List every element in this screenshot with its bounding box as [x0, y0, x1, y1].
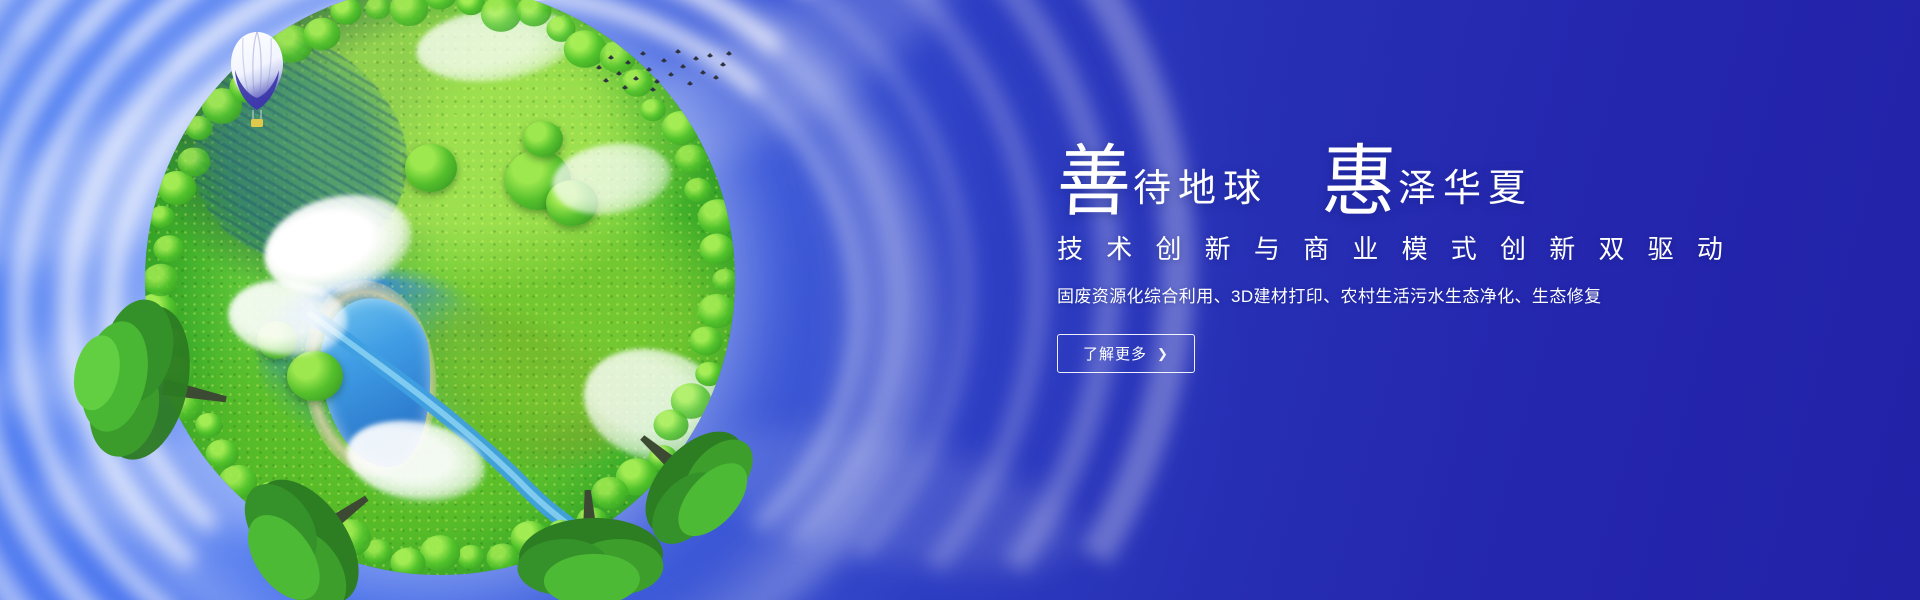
chevron-right-icon: ❯: [1157, 347, 1169, 360]
rim-tree: [675, 144, 708, 173]
hero-copy: 善 待地球 惠 泽华夏 技 术 创 新 与 商 业 模 式 创 新 双 驱 动 …: [1057, 128, 1817, 373]
rim-tree: [481, 0, 521, 32]
rim-tree: [698, 199, 735, 235]
rim-tree: [149, 205, 175, 228]
hero-subhead: 技 术 创 新 与 商 业 模 式 创 新 双 驱 动: [1057, 232, 1817, 266]
hot-air-balloon-icon: [228, 30, 286, 130]
hero-banner: 善 待地球 惠 泽华夏 技 术 创 新 与 商 业 模 式 创 新 双 驱 动 …: [0, 0, 1920, 600]
rim-tree: [641, 99, 667, 122]
rim-tree: [303, 18, 340, 50]
rim-tree: [365, 0, 391, 19]
tree-icon: [200, 455, 415, 600]
rim-tree: [153, 236, 184, 264]
rim-tree: [690, 326, 723, 355]
bird-flock-icon: [592, 48, 732, 94]
tree-icon: [600, 400, 790, 570]
rim-tree: [390, 0, 429, 26]
tree-icon: [30, 285, 260, 480]
headline-char-2: 惠: [1321, 144, 1398, 222]
hero-headline: 善 待地球 惠 泽华夏: [1057, 128, 1817, 220]
rim-tree: [662, 111, 701, 145]
rim-tree: [698, 294, 735, 328]
headline-char-1: 善: [1056, 144, 1133, 222]
rim-tree: [420, 535, 460, 571]
rim-tree: [712, 269, 735, 292]
rim-tree: [424, 0, 457, 10]
rim-tree: [517, 0, 552, 26]
learn-more-label: 了解更多: [1083, 343, 1147, 364]
learn-more-button[interactable]: 了解更多 ❯: [1057, 334, 1195, 373]
rim-tree: [684, 178, 712, 202]
headline-rest-1: 待地球: [1133, 166, 1268, 220]
rim-tree: [695, 362, 723, 386]
rim-tree: [330, 0, 361, 25]
rim-tree: [178, 147, 211, 176]
hero-description: 固废资源化综合利用、3D建材打印、农村生活污水生态净化、生态修复: [1057, 284, 1817, 310]
headline-rest-2: 泽华夏: [1398, 166, 1533, 220]
rim-tree: [700, 233, 735, 264]
